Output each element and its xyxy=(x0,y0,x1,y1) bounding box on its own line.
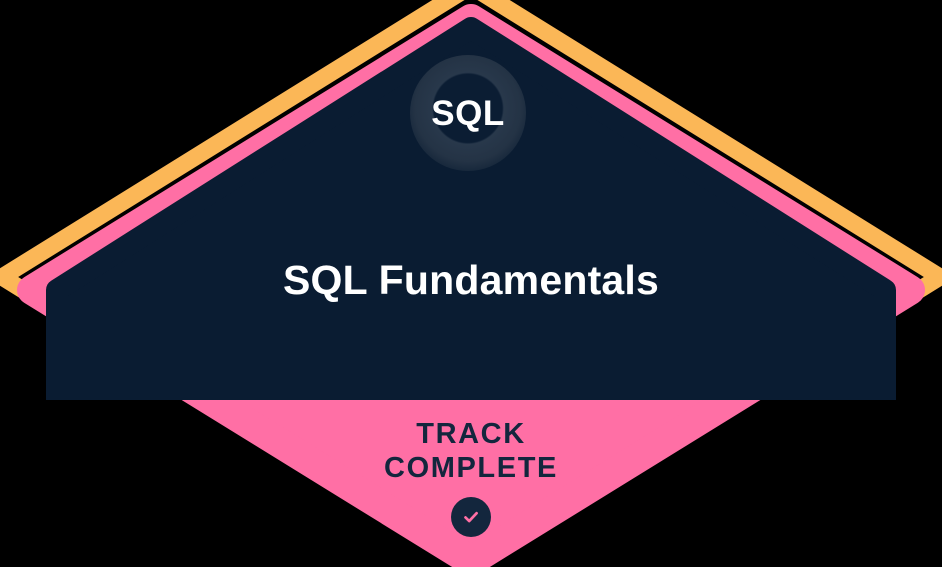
completion-check-badge xyxy=(451,497,491,537)
status-line-primary: TRACK xyxy=(0,418,942,452)
status-check-wrapper xyxy=(0,497,942,537)
track-title: SQL Fundamentals xyxy=(0,256,942,304)
status-line-secondary: COMPLETE xyxy=(0,452,942,486)
check-icon xyxy=(460,506,482,528)
sql-emblem-label: SQL xyxy=(431,96,504,131)
badge-stage: SQL SQL Fundamentals TRACK COMPLETE xyxy=(0,0,942,567)
sql-emblem: SQL xyxy=(410,55,526,171)
track-status-block: TRACK COMPLETE xyxy=(0,418,942,537)
